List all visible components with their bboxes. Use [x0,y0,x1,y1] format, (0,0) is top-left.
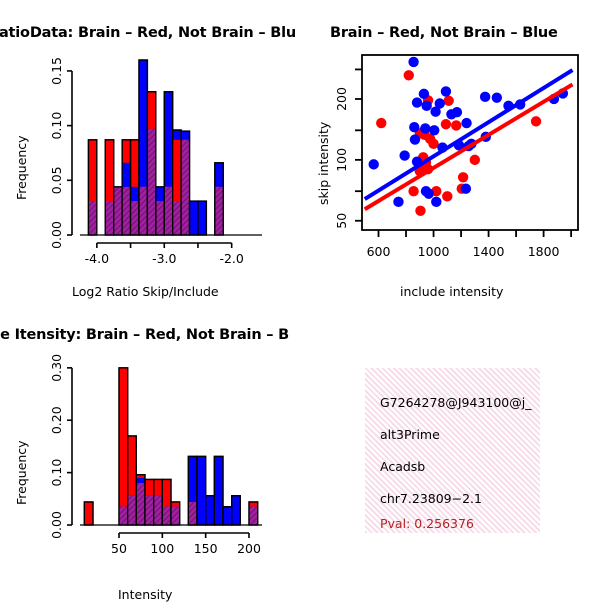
hist-bar-overlap [88,201,96,235]
scatter-point [458,172,468,182]
scatter-point [492,92,502,102]
ratio-histogram-plot: 0.000.050.100.15-4.0-3.0-2.0 [0,0,300,310]
scatter-point [461,118,471,128]
scatter-point [376,118,386,128]
hist-bar-overlap [162,507,171,525]
y-tick-label: 0.30 [49,354,64,382]
scatter-point [404,70,414,80]
scatter-point [531,116,541,126]
hist-bar-overlap [145,496,154,525]
scatter-point [431,197,441,207]
scatter-point [421,101,431,111]
hist-bar-overlap [147,129,155,235]
hist-bar-overlap [171,507,180,525]
hist-bar-overlap [188,502,197,525]
hist-bar-overlap [173,201,181,235]
scatter-point [461,184,471,194]
hist-bar-overlap [128,496,137,525]
y-tick-label: 200 [334,87,349,111]
x-tick-label: -2.0 [219,251,243,266]
hist-bar [198,201,206,235]
scatter-point [368,159,378,169]
scatter-point [412,97,422,107]
scatter-point [430,107,440,117]
scatter-point [419,89,429,99]
hist-bar-overlap [181,140,189,235]
hist-bar-overlap [139,187,147,235]
hist-bar-overlap [154,496,163,525]
hist-bar [232,496,241,525]
scatter-point [470,155,480,165]
x-tick-label: 100 [150,541,174,556]
scatter-point [420,123,430,133]
annotation-event-type: alt3Prime [380,427,440,442]
intensity-histogram-ylabel: Frequency [14,440,29,505]
scatter-point [441,86,451,96]
annotation-locus: chr7.23809−2.1 [380,491,482,506]
panel-annotation: G7264278@J943100@j_ alt3Prime Acadsb chr… [300,305,600,600]
scatter-point [429,125,439,135]
hist-bar [190,201,198,235]
y-tick-label: 0.10 [49,112,64,140]
panel-intensity-histogram: ne Itensity: Brain – Red, Not Brain – B … [0,305,300,600]
scatter-ylabel: skip intensity [316,122,331,205]
intensity-histogram-title: ne Itensity: Brain – Red, Not Brain – B [0,327,289,343]
scatter-point [408,186,418,196]
x-tick-label: -3.0 [152,251,176,266]
annotation-event-id: G7264278@J943100@j_ [380,395,531,410]
y-tick-label: 100 [334,148,349,172]
panel-intensity-scatter: Brain – Red, Not Brain – Blue skip inten… [300,0,600,310]
scatter-xlabel: include intensity [400,284,503,299]
y-tick-label: 50 [334,213,349,229]
hist-bar-overlap [156,201,164,235]
annotation-box [365,368,540,533]
ratio-histogram-xlabel: Log2 Ratio Skip/Include [72,284,219,299]
x-tick-label: 50 [111,541,127,556]
hist-bar [119,368,128,525]
scatter-point [399,150,409,160]
intensity-histogram-plot: 0.000.100.200.3050100150200 [0,305,300,600]
scatter-point [424,189,434,199]
hist-bar [197,456,206,525]
scatter-point [446,109,456,119]
scatter-point [409,122,419,132]
panel-ratio-histogram: RatioData: Brain – Red, Not Brain – Blu … [0,0,300,310]
scatter-point [442,191,452,201]
y-tick-label: 0.05 [49,166,64,194]
y-tick-label: 0.15 [49,57,64,85]
hist-bar [214,456,223,525]
scatter-point [441,119,451,129]
trend-line [365,70,573,199]
annotation-pval: Pval: 0.256376 [380,516,474,531]
hist-bar [223,507,232,525]
y-tick-label: 0.00 [49,511,64,539]
scatter-point [451,120,461,130]
y-tick-label: 0.00 [49,221,64,249]
x-tick-label: 1000 [418,244,450,259]
scatter-title: Brain – Red, Not Brain – Blue [330,25,558,41]
hist-bar-overlap [131,201,139,235]
hist-bar-overlap [122,187,130,235]
scatter-point [443,96,453,106]
hist-bar [84,502,93,525]
hist-bar [206,496,215,525]
x-tick-label: 150 [194,541,218,556]
ratio-histogram-title: RatioData: Brain – Red, Not Brain – Blu [0,25,296,41]
y-tick-label: 0.20 [49,406,64,434]
hist-bar-overlap [249,507,258,525]
x-tick-label: 1800 [528,244,560,259]
scatter-point [408,57,418,67]
x-tick-label: 1400 [473,244,505,259]
hist-bar-overlap [136,483,145,525]
annotation-gene-symbol: Acadsb [380,459,425,474]
ratio-histogram-ylabel: Frequency [14,135,29,200]
scatter-point [410,134,420,144]
scatter-point [480,92,490,102]
hist-bar-overlap [119,507,128,525]
hist-bar-overlap [105,201,113,235]
hist-bar-overlap [164,187,172,235]
scatter-point [415,206,425,216]
x-tick-label: -4.0 [85,251,109,266]
hist-bar-overlap [215,187,223,235]
x-tick-label: 600 [367,244,391,259]
y-tick-label: 0.10 [49,459,64,487]
scatter-point [393,197,403,207]
x-tick-label: 200 [237,541,261,556]
scatter-plot: 50100200600100014001800 [300,0,600,310]
hist-bar-overlap [114,187,122,235]
